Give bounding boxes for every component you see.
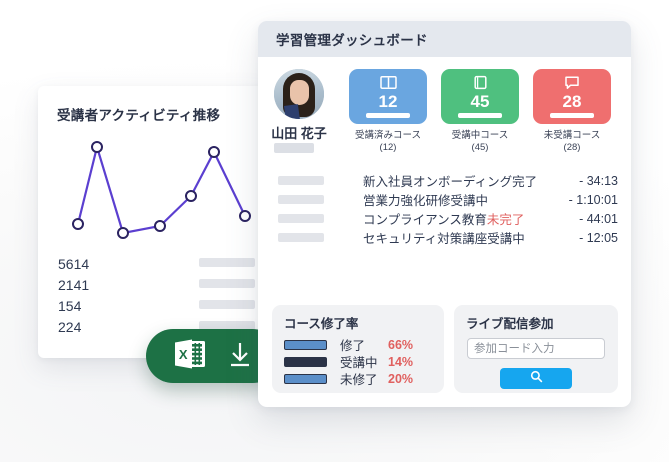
course-name: セキュリティ対策講座受講中 [363,228,525,247]
course-thumb-placeholder [278,195,324,204]
stat-card-not-started-courses[interactable]: 28 未受講コース (28) [533,69,611,154]
svg-text:X: X [179,347,188,362]
stat-label-line2: (28) [533,142,611,154]
download-arrow-icon [227,340,253,373]
status-badge: 未完了 [487,213,525,227]
list-item[interactable]: コンプライアンス教育未完了 - 44:01 [258,209,631,228]
excel-file-icon: X [173,339,207,374]
list-item[interactable]: 営業力強化研修受講中 - 1:10:01 [258,190,631,209]
join-code-input[interactable] [467,338,605,359]
activity-chart-card: 受講者アクティビティ推移 5614 2141 154 224 [38,86,270,358]
chart-title: 受講者アクティビティ推移 [57,104,220,124]
legend-swatch [284,374,327,384]
legend-swatch [284,340,327,350]
stat-label: 受講中コース (45) [441,130,519,154]
stat-underline [458,113,502,118]
live-search-button[interactable] [500,368,572,389]
dashboard-header: 学習管理ダッシュボード [258,21,631,57]
legend-row-in-progress: 受講中 14% [272,353,444,370]
course-name-text: コンプライアンス教育 [363,213,487,227]
legend-label: 未修了 [340,369,388,388]
course-name: 新入社員オンボーディング完了 [363,171,537,190]
course-thumb-placeholder [278,214,324,223]
chart-value-list: 5614 2141 154 224 [58,254,89,338]
stat-label-line2: (12) [349,142,427,154]
legend-percent: 66% [388,338,413,352]
course-thumb-placeholder [278,233,324,242]
avatar [274,69,324,119]
legend-row-completed: 修了 66% [272,336,444,353]
open-book-icon [380,74,397,91]
chart-value: 5614 [58,254,89,275]
closed-book-icon [473,74,488,91]
activity-line-chart [38,128,270,253]
stat-value: 28 [563,92,582,111]
course-duration: - 1:10:01 [569,193,618,207]
dashboard-title: 学習管理ダッシュボード [276,29,428,49]
list-item[interactable]: セキュリティ対策講座受講中 - 12:05 [258,228,631,247]
magnifier-icon [530,370,543,388]
profile-meta-placeholder [274,143,314,153]
chart-value: 224 [58,317,89,338]
stat-card-in-progress-courses[interactable]: 45 受講中コース (45) [441,69,519,154]
list-item[interactable]: 新入社員オンボーディング完了 - 34:13 [258,171,631,190]
chart-value: 2141 [58,275,89,296]
live-stream-panel: ライブ配信参加 [454,305,618,393]
profile-and-stats-row: 山田 花子 12 受講済みコース (12) [258,57,631,167]
stat-label-line1: 受講済みコース [349,130,427,142]
legend-percent: 20% [388,372,413,386]
course-duration: - 44:01 [579,212,618,226]
chart-value: 154 [58,296,89,317]
stat-value: 12 [379,92,398,111]
stat-label: 未受講コース (28) [533,130,611,154]
completion-rate-panel: コース修了率 修了 66% 受講中 14% 未修了 20% [272,305,444,393]
legend-percent: 14% [388,355,413,369]
completion-rate-title: コース修了率 [272,305,444,336]
legend-swatch [284,357,327,367]
stat-label-line2: (45) [441,142,519,154]
course-thumb-placeholder [278,176,324,185]
stat-label: 受講済みコース (12) [349,130,427,154]
course-name: コンプライアンス教育未完了 [363,209,524,228]
stat-label-line1: 未受講コース [533,130,611,142]
course-duration: - 34:13 [579,174,618,188]
stat-underline [366,113,410,118]
app-background: 受講者アクティビティ推移 5614 2141 154 224 [0,0,669,462]
profile-name: 山田 花子 [270,123,328,142]
stat-value: 45 [471,92,490,111]
course-progress-list: 新入社員オンボーディング完了 - 34:13 営業力強化研修受講中 - 1:10… [258,171,631,255]
course-name: 営業力強化研修受講中 [363,190,488,209]
learning-dashboard-card: 学習管理ダッシュボード 山田 花子 12 [258,21,631,407]
speech-bubble-icon [564,74,580,91]
stat-card-completed-courses[interactable]: 12 受講済みコース (12) [349,69,427,154]
legend-row-not-completed: 未修了 20% [272,370,444,387]
live-stream-title: ライブ配信参加 [454,305,618,336]
stat-underline [550,113,594,118]
course-duration: - 12:05 [579,231,618,245]
stat-label-line1: 受講中コース [441,130,519,142]
